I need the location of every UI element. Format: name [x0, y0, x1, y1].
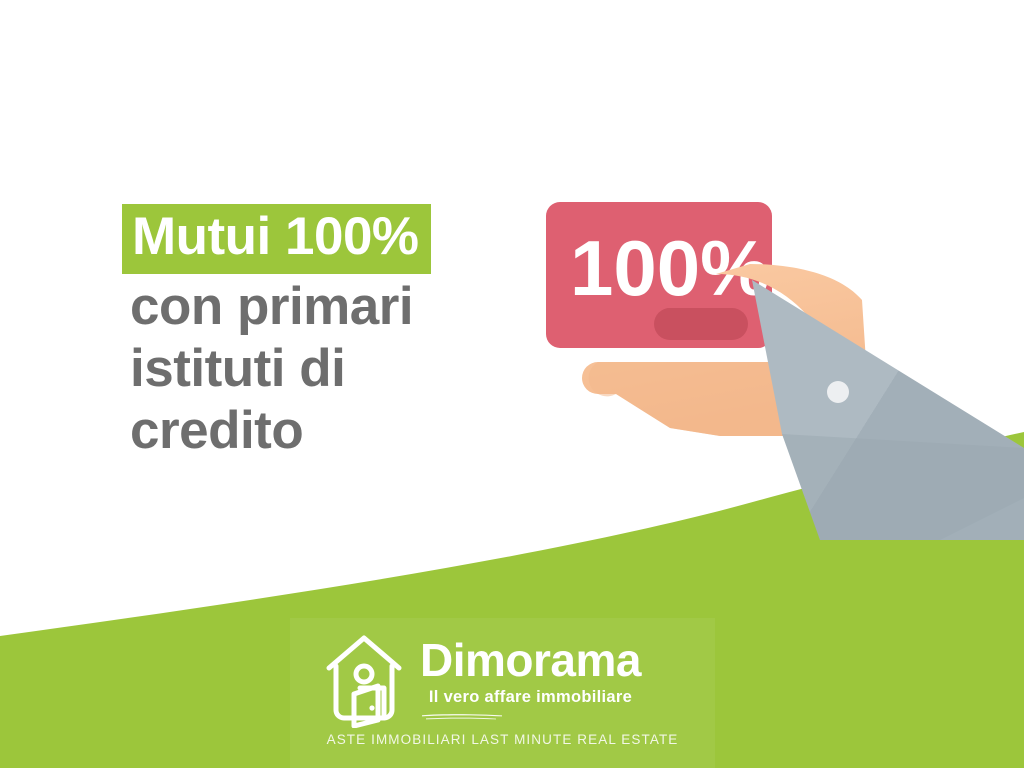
headline-highlight-text: Mutui 100%	[122, 204, 431, 274]
brand-services-line: ASTE IMMOBILIARI LAST MINUTE REAL ESTATE	[290, 732, 715, 747]
thumb-groove	[654, 308, 748, 340]
cuff-button-icon	[827, 381, 849, 403]
brand-logo-lockup[interactable]: Dimorama Il vero affare immobiliare ASTE…	[290, 620, 715, 768]
shirt-sleeve-icon	[752, 280, 1024, 540]
logo-row: Dimorama Il vero affare immobiliare	[322, 632, 641, 728]
door-handle-icon	[369, 705, 374, 710]
promo-banner: Mutui 100% con primari istituti di credi…	[0, 0, 1024, 768]
hand-with-percent-card-illustration: 100%	[520, 180, 1024, 540]
headline-block: Mutui 100% con primari istituti di credi…	[124, 204, 524, 460]
headline-highlight-line: Mutui 100%	[124, 204, 524, 274]
headline-line-3: istituti di	[124, 340, 524, 398]
brand-name: Dimorama	[420, 637, 641, 683]
logo-wordmark: Dimorama Il vero affare immobiliare	[420, 635, 641, 725]
brush-underline-icon	[420, 713, 504, 720]
headline-line-2: con primari	[124, 278, 524, 336]
headline-line-4: credito	[124, 402, 524, 460]
house-with-door-icon	[322, 632, 406, 728]
brand-tagline: Il vero affare immobiliare	[420, 687, 641, 707]
